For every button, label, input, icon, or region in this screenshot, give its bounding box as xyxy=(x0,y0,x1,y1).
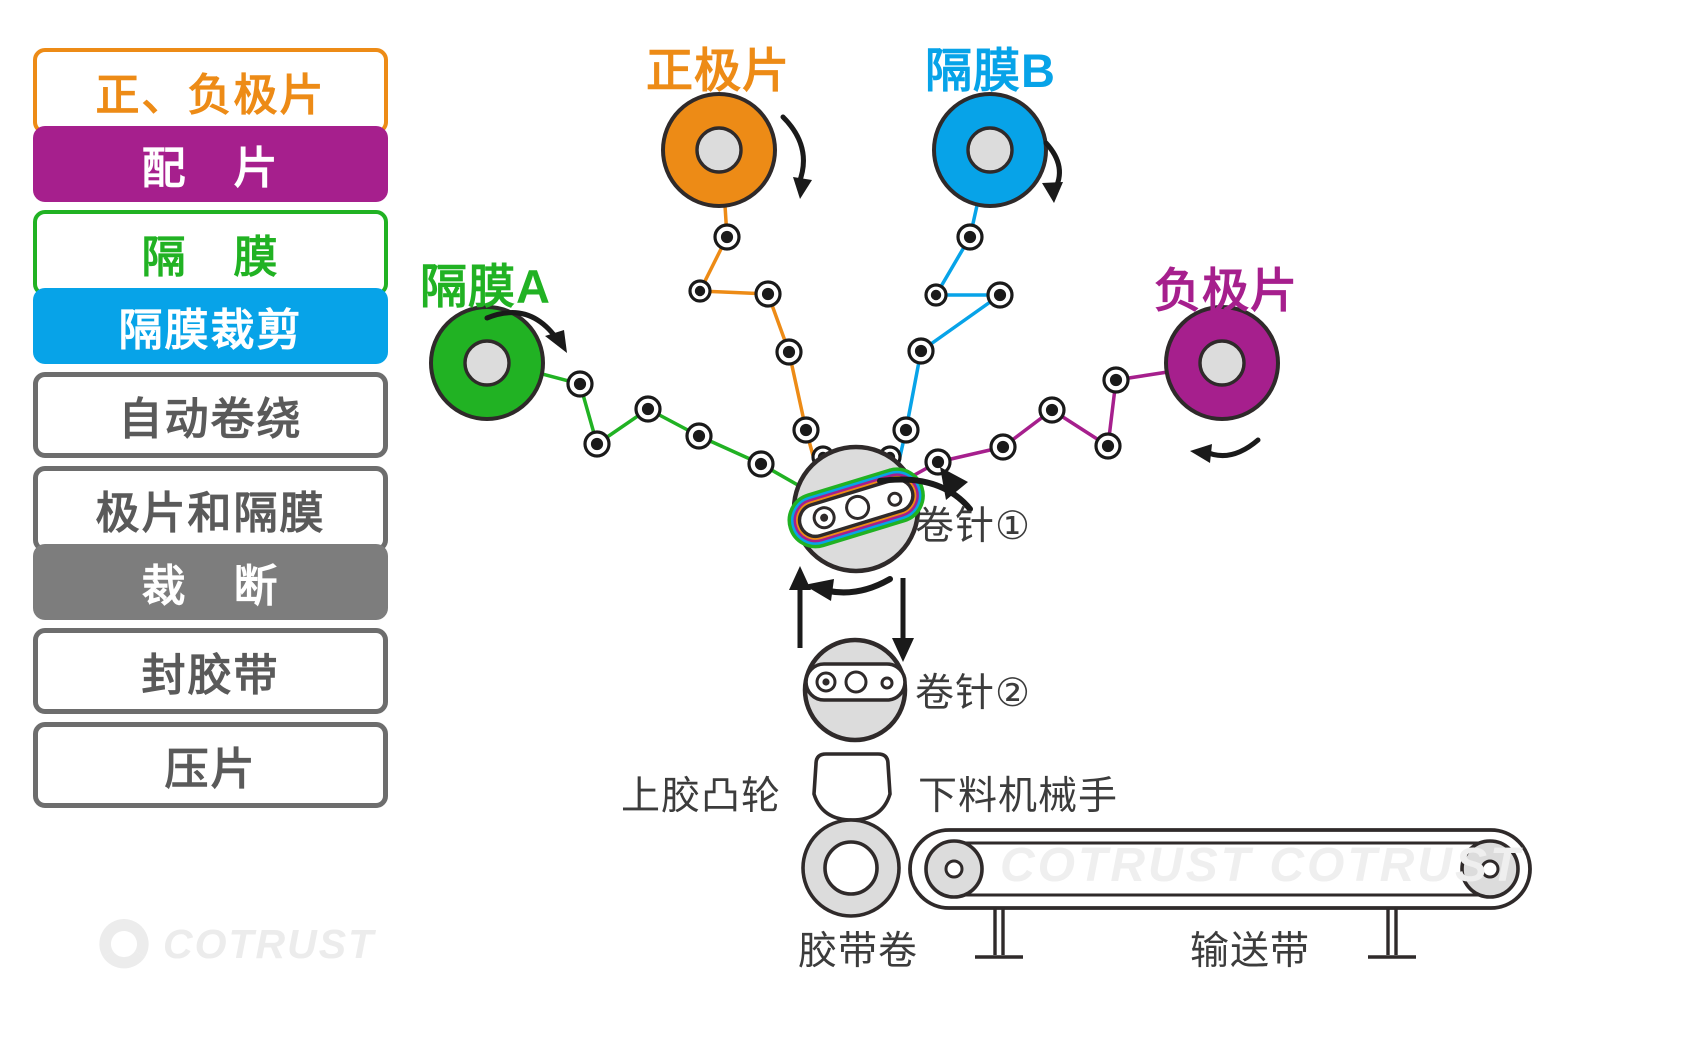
glue-cam[interactable] xyxy=(814,754,890,820)
arrowhead xyxy=(1190,444,1212,463)
label-mandrel-2: 卷针② xyxy=(915,662,1031,718)
sidebar-step-label: 隔膜裁剪 xyxy=(119,294,303,358)
label-conveyor: 输送带 xyxy=(1190,920,1310,976)
sidebar-step-label: 裁 断 xyxy=(142,550,280,614)
sidebar-step-cutting[interactable]: 裁 断 xyxy=(33,544,388,620)
winding-mandrel-1[interactable] xyxy=(786,447,927,571)
positive-electrode-roll[interactable] xyxy=(663,94,775,206)
tape-roll[interactable] xyxy=(803,820,899,916)
label-mandrel-1: 卷针① xyxy=(915,495,1031,551)
positive-roll-rotation-arrow xyxy=(783,117,803,183)
negative-electrode-roll[interactable] xyxy=(1166,307,1278,419)
label-separator-a: 隔膜A xyxy=(420,248,551,317)
sidebar-step-label: 配 片 xyxy=(142,132,280,196)
label-unload-robot: 下料机械手 xyxy=(918,765,1118,821)
label-tape-roll: 胶带卷 xyxy=(798,920,918,976)
arrowhead xyxy=(1042,182,1063,203)
negative-electrode-web xyxy=(880,365,1213,494)
sidebar-step-separator-cutting[interactable]: 隔膜裁剪 xyxy=(33,288,388,364)
arrowhead xyxy=(545,330,567,353)
separator-b-roll[interactable] xyxy=(934,94,1046,206)
separator-a-roll[interactable] xyxy=(431,307,543,419)
arrowhead-up xyxy=(789,566,811,590)
diagram-canvas: 正、负极片 配 片 隔 膜 隔膜裁剪 自动卷绕 极片和隔膜 裁 断 封胶带 xyxy=(0,0,1681,1064)
label-negative-electrode: 负极片 xyxy=(1154,252,1298,321)
arrowhead xyxy=(793,177,812,199)
label-glue-cam: 上胶凸轮 xyxy=(621,765,781,821)
label-separator-b: 隔膜B xyxy=(925,32,1056,101)
winding-mandrel-2[interactable] xyxy=(805,640,905,740)
conveyor-watermark-text: COTRUST COTRUST xyxy=(1000,838,1522,893)
label-positive-electrode: 正极片 xyxy=(646,32,790,101)
negative-roll-rotation-arrow xyxy=(1204,440,1258,456)
sidebar-step-pairing[interactable]: 配 片 xyxy=(33,126,388,202)
